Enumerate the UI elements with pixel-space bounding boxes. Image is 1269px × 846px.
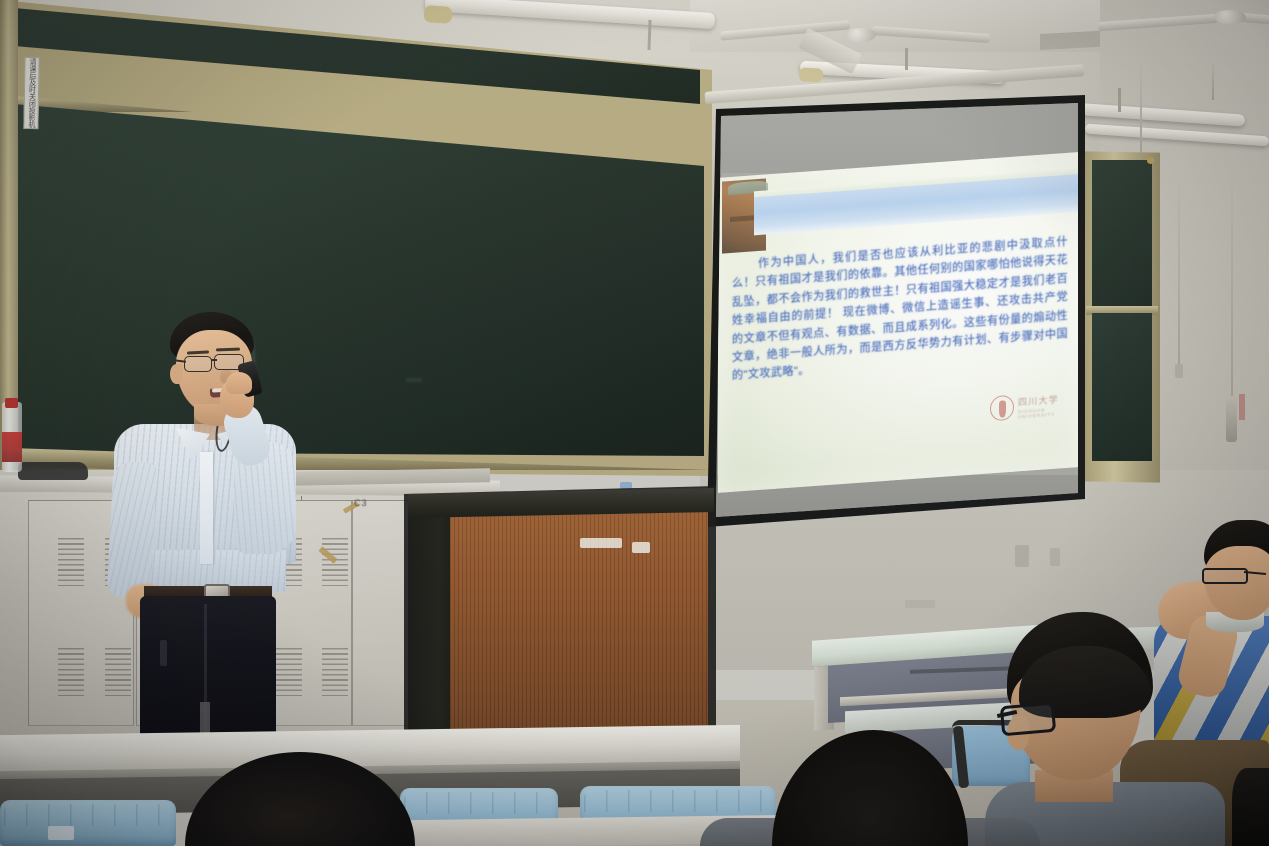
wall-mark — [1050, 548, 1060, 566]
cabinet-vent — [322, 648, 348, 696]
projected-slide: 作为中国人，我们是否也应该从利比亚的悲剧中汲取点什么！只有祖国才是我们的依靠。其… — [718, 152, 1078, 493]
lectern-side-panel — [408, 508, 452, 744]
dark-object-on-ledge[interactable] — [18, 462, 88, 480]
chair-ribbing — [4, 804, 172, 826]
lectern-sticker — [580, 538, 622, 548]
student-gray-tee — [985, 612, 1225, 846]
trouser-pocket — [160, 640, 167, 666]
chair-ribbing — [584, 790, 772, 812]
cabinet-vent — [58, 648, 84, 696]
eyeglasses-icon — [184, 356, 212, 372]
chalkboard-knob[interactable] — [1147, 157, 1154, 164]
cabinet-door-marking: C3 — [354, 498, 368, 508]
fixture-stem — [1118, 88, 1121, 112]
eyeglasses-icon — [1000, 702, 1056, 737]
chalk-residue — [406, 378, 422, 382]
fluorescent-tube-cap — [423, 5, 452, 24]
presenter-fingers — [226, 372, 252, 394]
ceiling-fan-icon — [846, 28, 876, 42]
pull-cord[interactable] — [1178, 158, 1180, 368]
classroom-photograph: 请课后及时关闭投影机 作为中国人，我们是否也应该从利比亚的悲剧中汲取点什么！只有… — [0, 0, 1269, 846]
university-logo: 四川大学 SICHUAN UNIVERSITY — [990, 389, 1068, 425]
university-seal-icon — [990, 395, 1014, 422]
slide-body-text: 作为中国人，我们是否也应该从利比亚的悲剧中汲取点什么！只有祖国才是我们的依靠。其… — [732, 233, 1068, 407]
ceiling-fan-icon — [1214, 10, 1246, 24]
cabinet-vent — [58, 538, 84, 586]
presenter-ear — [170, 364, 183, 384]
pull-cord-tag — [1239, 394, 1245, 420]
fluorescent-tube-cap — [799, 67, 824, 82]
pull-cord[interactable] — [1231, 152, 1233, 402]
fixture-stem — [905, 48, 908, 70]
chalkboard-notice-sign: 请课后及时关闭投影机 — [23, 57, 39, 129]
lectern-sticker — [632, 542, 650, 553]
bottle-label — [2, 432, 22, 462]
eyeglasses-bridge — [211, 359, 217, 361]
wooden-lectern[interactable] — [450, 512, 708, 738]
pull-cord[interactable] — [1140, 62, 1142, 162]
eyeglasses-icon — [1202, 568, 1248, 584]
chair-sticker — [48, 826, 74, 840]
wall-mark — [905, 600, 935, 608]
side-chalkboard-upper-panel[interactable] — [1092, 160, 1152, 308]
projection-screen[interactable]: 作为中国人，我们是否也应该从利比亚的悲剧中汲取点什么！只有祖国才是我们的依靠。其… — [716, 103, 1078, 517]
university-logo-subtitle: SICHUAN UNIVERSITY — [1018, 406, 1068, 420]
pull-cord[interactable] — [1212, 60, 1214, 100]
pull-cord-handle[interactable] — [1226, 396, 1237, 442]
presenter — [108, 312, 308, 746]
bottle-cap[interactable] — [5, 398, 18, 408]
chalkboard-notice-text: 请课后及时关闭投影机 — [27, 58, 36, 128]
presenter-shirt-placket — [200, 452, 213, 564]
chair-ribbing — [404, 792, 554, 814]
side-chalkboard-lower-panel[interactable] — [1092, 313, 1152, 461]
wall-mark — [1015, 545, 1029, 567]
trouser-seam — [204, 604, 207, 752]
student-right-edge — [1232, 768, 1269, 846]
presenter-left-arm — [106, 461, 157, 599]
pull-cord-weight[interactable] — [1175, 364, 1183, 378]
